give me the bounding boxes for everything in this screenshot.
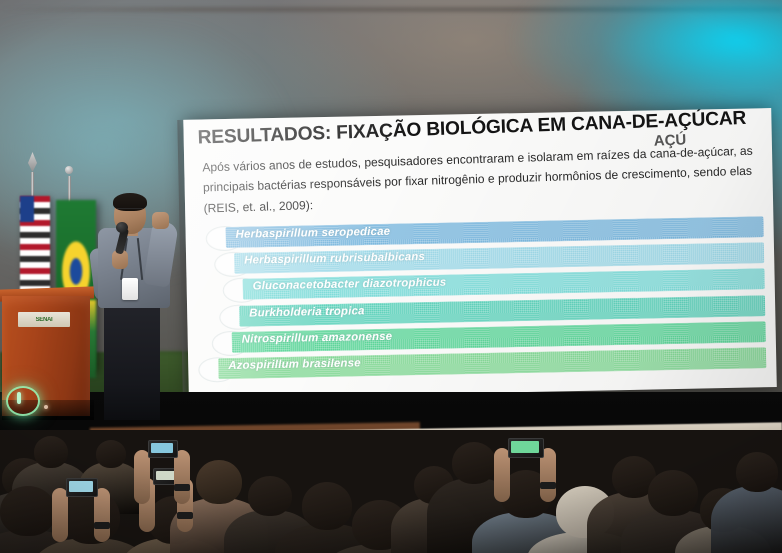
audience-member-head (736, 452, 778, 492)
audience-wristwatch (94, 522, 110, 529)
slide-body-text: Após vários anos de estudos, pesquisador… (202, 140, 760, 218)
audience-member-head (34, 436, 68, 468)
flag-finial-ball-icon (65, 166, 73, 174)
podium-logo: SENAI (18, 312, 70, 327)
presentation-photo-scene: RESULTADOS: FIXAÇÃO BIOLÓGICA EM CANA-DE… (0, 0, 782, 553)
audience-member-head (452, 442, 496, 484)
bacteria-name-label: Burkholderia tropica (249, 305, 365, 319)
slide-content: RESULTADOS: FIXAÇÃO BIOLÓGICA EM CANA-DE… (183, 108, 776, 399)
audience-member-head (62, 490, 120, 544)
audience-member-head (302, 482, 352, 530)
bacteria-name-label: Azospirillum brasilense (228, 357, 361, 372)
projection-screen: RESULTADOS: FIXAÇÃO BIOLÓGICA EM CANA-DE… (173, 100, 779, 402)
audience-member-head (96, 440, 126, 468)
smartphone-screen (69, 481, 93, 492)
speaker-glasses-icon (117, 208, 143, 215)
speaker-legs (104, 300, 160, 420)
smartphone-screen (151, 443, 173, 453)
audience-wristwatch (540, 482, 556, 489)
smartphone-screen (511, 441, 539, 453)
bacteria-list: Herbaspirillum seropedicaeHerbaspirillum… (203, 216, 766, 384)
audience-member-head (648, 470, 698, 516)
audience-member-head (248, 476, 292, 516)
audience-member-head (196, 460, 242, 504)
podium-logo-text: SENAI (36, 317, 53, 323)
audience-wristwatch (174, 484, 190, 491)
speaker-raised-fist (152, 212, 169, 229)
audience-wristwatch (177, 512, 193, 519)
audience-raised-arm (174, 450, 190, 504)
sao-paulo-flag-canton (20, 196, 34, 222)
audience-member-head (0, 486, 56, 536)
emblem-spark-light (44, 405, 48, 409)
microphone-icon (116, 222, 128, 233)
smartphone-screen (156, 471, 176, 480)
audience-row (0, 430, 782, 553)
glowing-emblem-icon (6, 386, 40, 416)
audience-member-shoulders (711, 486, 782, 553)
emblem-inner-light (17, 392, 21, 404)
audience-raised-arm (134, 450, 150, 504)
speaker-badge (122, 278, 138, 300)
